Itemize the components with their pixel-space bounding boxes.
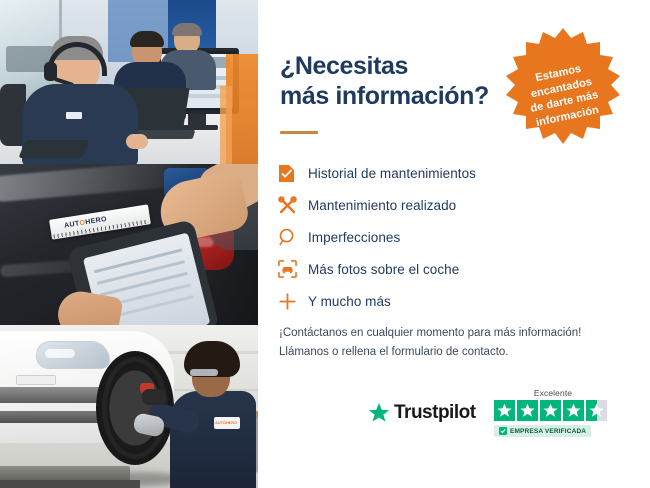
- star-filled: [540, 400, 561, 421]
- orange-panel-2: [220, 86, 232, 164]
- document-check-icon: [278, 164, 308, 183]
- promo-badge: Estamos encantados de darte más informac…: [501, 26, 625, 150]
- check-icon: [499, 427, 507, 435]
- feature-label: Más fotos sobre el coche: [308, 262, 459, 277]
- feature-label: Mantenimiento realizado: [308, 198, 456, 213]
- contact-line-1: ¡Contáctanos en cualquier momento para m…: [279, 324, 629, 343]
- star-filled: [517, 400, 538, 421]
- title-divider: [280, 131, 318, 134]
- headset-icon: [490, 26, 512, 46]
- feature-item: Imperfecciones: [278, 221, 558, 253]
- magnifier-icon: [278, 228, 308, 247]
- plus-icon: [278, 292, 308, 311]
- car-inspection-ruler-photo: AUTOHERO: [0, 164, 258, 325]
- star-filled: [563, 400, 584, 421]
- tools-cross-icon: [278, 196, 308, 215]
- star-rating: [494, 400, 612, 421]
- feature-item: Y mucho más: [278, 285, 558, 317]
- desk-tablet: [18, 140, 89, 158]
- technician: [170, 343, 256, 488]
- content-panel: ¿Necesitas más información? Estamos enca…: [258, 0, 650, 488]
- feature-item: Mantenimiento realizado: [278, 189, 558, 221]
- photo-column: AUTOHERO: [0, 0, 258, 488]
- feature-label: Imperfecciones: [308, 230, 400, 245]
- verified-label: EMPRESA VERIFICADA: [510, 428, 586, 435]
- feature-item: Historial de mantenimientos: [278, 157, 558, 189]
- trustpilot-wordmark: Trustpilot: [394, 402, 476, 424]
- feature-label: Y mucho más: [308, 294, 391, 309]
- feature-label: Historial de mantenimientos: [308, 166, 476, 181]
- car-scan-icon: [278, 260, 308, 278]
- car-on-lift-wheel-photo: [0, 325, 258, 488]
- contact-copy: ¡Contáctanos en cualquier momento para m…: [279, 324, 629, 361]
- call-center-agents-photo: [0, 0, 258, 164]
- feature-list: Historial de mantenimientos Mantenimient…: [278, 157, 558, 317]
- license-plate: [16, 375, 56, 385]
- trustpilot-rating: Excelente: [494, 388, 612, 439]
- trustpilot-star-icon: [368, 402, 390, 424]
- contact-line-2: Llámanos o rellena el formulario de cont…: [279, 343, 629, 362]
- headlight: [36, 341, 110, 369]
- star-filled: [494, 400, 515, 421]
- feature-item: Más fotos sobre el coche: [278, 253, 558, 285]
- autohero-logo-patch: [214, 417, 240, 429]
- trustpilot-widget[interactable]: Trustpilot Excelente: [368, 388, 608, 452]
- star-half: [586, 400, 607, 421]
- page-title: ¿Necesitas más información?: [280, 52, 530, 111]
- car-lift-base: [0, 480, 140, 488]
- grille-lower: [0, 411, 106, 423]
- headline-line-1: ¿Necesitas: [280, 52, 408, 80]
- information-promo-card: AUTOHERO: [0, 0, 650, 488]
- verified-company-badge: EMPRESA VERIFICADA: [494, 425, 591, 437]
- trustpilot-logo[interactable]: Trustpilot: [368, 402, 476, 424]
- rating-label: Excelente: [494, 388, 612, 398]
- headline-line-2: más información?: [280, 82, 489, 110]
